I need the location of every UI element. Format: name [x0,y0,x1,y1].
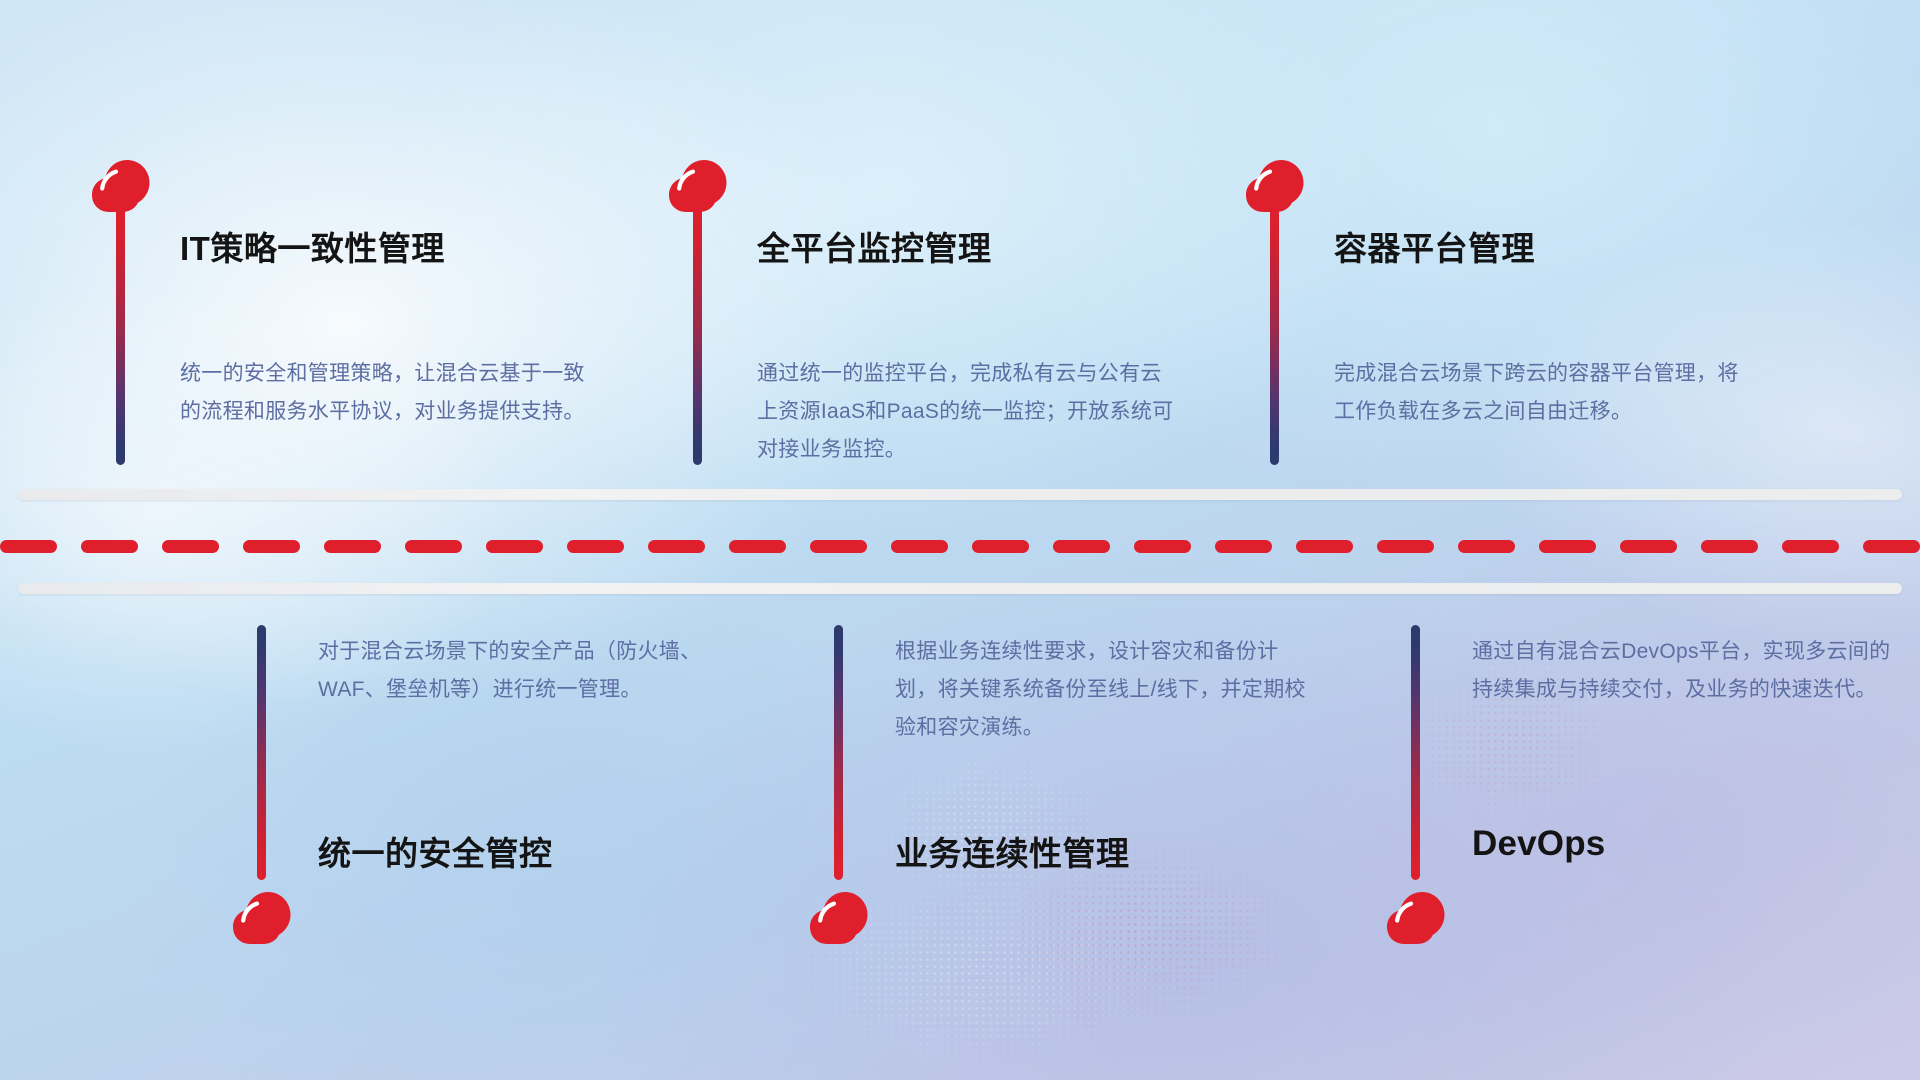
divider-dash [1215,540,1272,553]
divider-dash [1053,540,1110,553]
bottom-item-body: 根据业务连续性要求，设计容灾和备份计划，将关键系统备份至线上/线下，并定期校验和… [895,633,1315,747]
connector-stem [1411,625,1420,880]
divider-dash [0,540,57,553]
connector-stem [116,205,125,465]
divider-dash [729,540,786,553]
divider-dash [1701,540,1758,553]
divider-dash [648,540,705,553]
divider-dash [81,540,138,553]
divider-dash [972,540,1029,553]
bottom-item-heading: 业务连续性管理 [895,827,1130,875]
divider-dash [1134,540,1191,553]
divider-band-top [18,489,1902,500]
top-item-body: 统一的安全和管理策略，让混合云基于一致的流程和服务水平协议，对业务提供支持。 [180,355,600,431]
top-item-body: 通过统一的监控平台，完成私有云与公有云上资源IaaS和PaaS的统一监控；开放系… [757,355,1177,469]
bottom-item-body: 通过自有混合云DevOps平台，实现多云间的持续集成与持续交付，及业务的快速迭代… [1472,633,1892,709]
connector-stem [693,205,702,465]
divider-dash [324,540,381,553]
top-item-body: 完成混合云场景下跨云的容器平台管理，将工作负载在多云之间自由迁移。 [1334,355,1754,431]
divider-dash [162,540,219,553]
divider-dash [1782,540,1839,553]
divider-dash [486,540,543,553]
top-item-heading: IT策略一致性管理 [180,222,445,270]
connector-stem [1270,205,1279,465]
divider-dash [1539,540,1596,553]
divider-dash [1377,540,1434,553]
bottom-item-heading: DevOps [1472,824,1605,864]
connector-stem [257,625,266,880]
divider-dash [1458,540,1515,553]
top-item-heading: 容器平台管理 [1334,222,1535,270]
divider-dash [567,540,624,553]
cloud-pin-icon [231,890,293,946]
bottom-item-body: 对于混合云场景下的安全产品（防火墙、WAF、堡垒机等）进行统一管理。 [318,633,738,709]
divider-band-bottom [18,583,1902,594]
divider-dash [1296,540,1353,553]
infographic-canvas: IT策略一致性管理 统一的安全和管理策略，让混合云基于一致的流程和服务水平协议，… [0,0,1920,1080]
divider-dash [810,540,867,553]
top-item-heading: 全平台监控管理 [757,222,992,270]
connector-stem [834,625,843,880]
cloud-pin-icon [1385,890,1447,946]
bottom-item-heading: 统一的安全管控 [318,827,553,875]
cloud-pin-icon [808,890,870,946]
divider-dash [891,540,948,553]
divider-dash [1620,540,1677,553]
divider-dash [405,540,462,553]
divider-dash [243,540,300,553]
divider-dash [1863,540,1920,553]
red-dashed-divider [0,540,1920,553]
